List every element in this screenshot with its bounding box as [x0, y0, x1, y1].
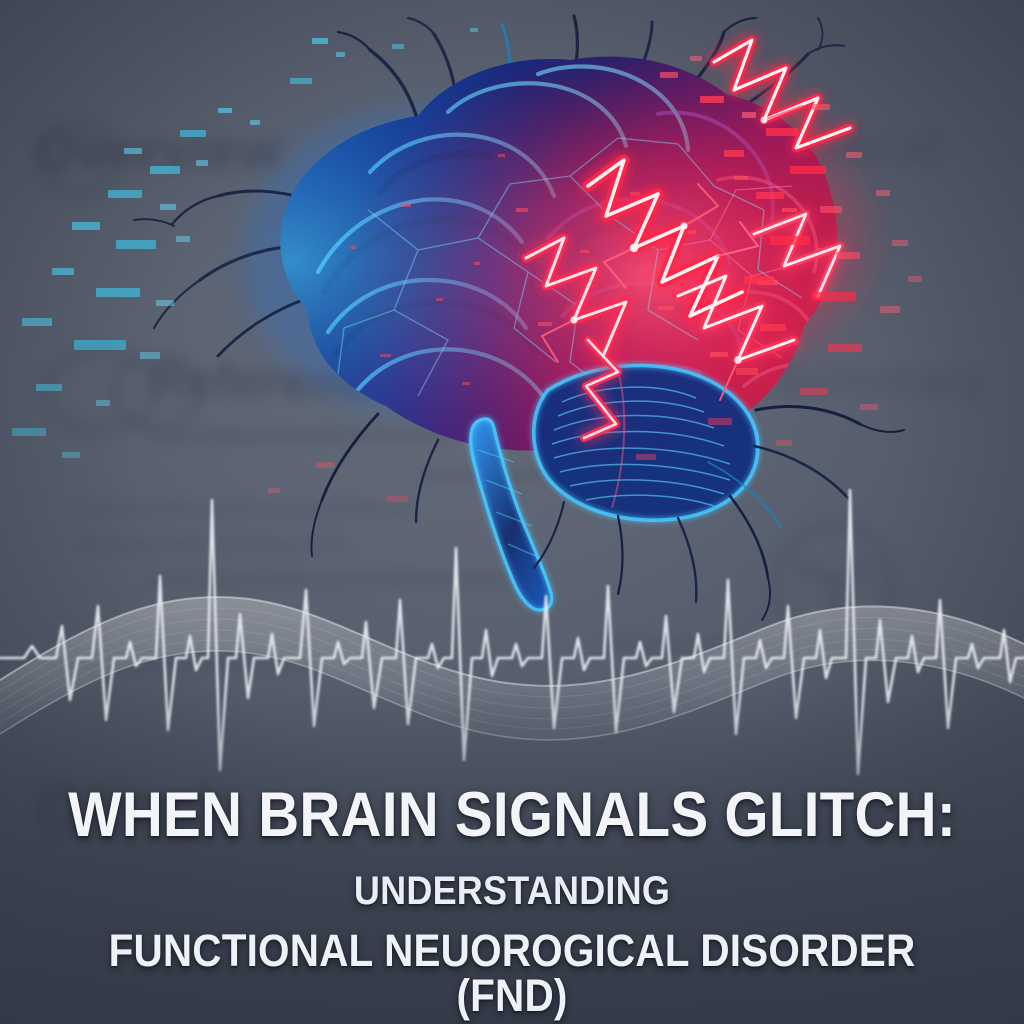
headline-sub-2: FUNCTIONAL NEUOROGICAL DISORDER (FND): [64, 928, 960, 1018]
glitch-fragment: [800, 388, 828, 395]
glitch-fragment: [880, 306, 900, 313]
glitch-fragment: [96, 288, 140, 297]
glitch-fragment: [124, 148, 142, 154]
glitch-fragment: [250, 120, 260, 125]
glitch-fragment: [196, 160, 208, 166]
glitch-fragment: [660, 72, 678, 78]
glitch-fragment: [736, 368, 758, 375]
headline-sub-1: UNDERSTANDING: [64, 871, 960, 911]
glitch-fragment: [892, 240, 908, 246]
glitch-fragment: [836, 252, 860, 259]
glitch-fragment: [876, 190, 890, 196]
glitch-fragment: [790, 166, 826, 174]
glitch-fragment: [36, 384, 62, 391]
glitch-fragment: [180, 130, 206, 137]
glitch-fragment: [290, 78, 312, 84]
glitch-fragment: [690, 56, 702, 61]
glitch-fragment: [72, 222, 100, 230]
glitch-fragment: [96, 400, 110, 406]
glitch-fragment: [392, 44, 404, 49]
glitch-fragment: [336, 52, 345, 57]
glitch-fragment: [156, 300, 174, 306]
headline-main: WHEN BRAIN SIGNALS GLITCH:: [64, 784, 960, 847]
glitch-fragment: [22, 318, 52, 326]
glitch-fragment: [52, 268, 74, 275]
glitch-fragment: [812, 104, 830, 110]
glitch-fragment: [218, 108, 232, 113]
glitch-fragment: [160, 204, 176, 210]
title-block: WHEN BRAIN SIGNALS GLITCH: UNDERSTANDING…: [0, 784, 1024, 1018]
glitch-fragment: [700, 96, 724, 103]
glitch-fragment: [74, 340, 126, 350]
glitch-fragment: [812, 292, 856, 301]
glitch-fragment: [744, 276, 774, 284]
glitch-fragment: [846, 152, 862, 158]
glitch-fragment: [770, 236, 810, 245]
glitch-fragment: [828, 344, 862, 352]
glitch-fragment: [742, 112, 756, 118]
glitch-fragment: [176, 236, 190, 242]
glitch-fragment: [116, 240, 156, 249]
glitch-fragment: [150, 166, 180, 174]
glitch-fragment: [470, 28, 478, 32]
glitch-fragment: [820, 206, 842, 213]
glitch-fragment: [312, 38, 328, 44]
glitch-fragment: [766, 128, 798, 136]
glitch-fragment: [140, 352, 160, 359]
glitch-fragment: [756, 192, 784, 199]
glitch-fragment: [860, 404, 878, 410]
glitch-fragment: [108, 190, 142, 198]
glitch-fragment: [708, 418, 732, 425]
glitch-fragment: [724, 150, 744, 157]
poster-canvas: Overview Clinical Reference Summary Glit…: [0, 0, 1024, 1024]
glitch-fragment: [908, 276, 922, 282]
glitch-fragment: [760, 324, 786, 331]
